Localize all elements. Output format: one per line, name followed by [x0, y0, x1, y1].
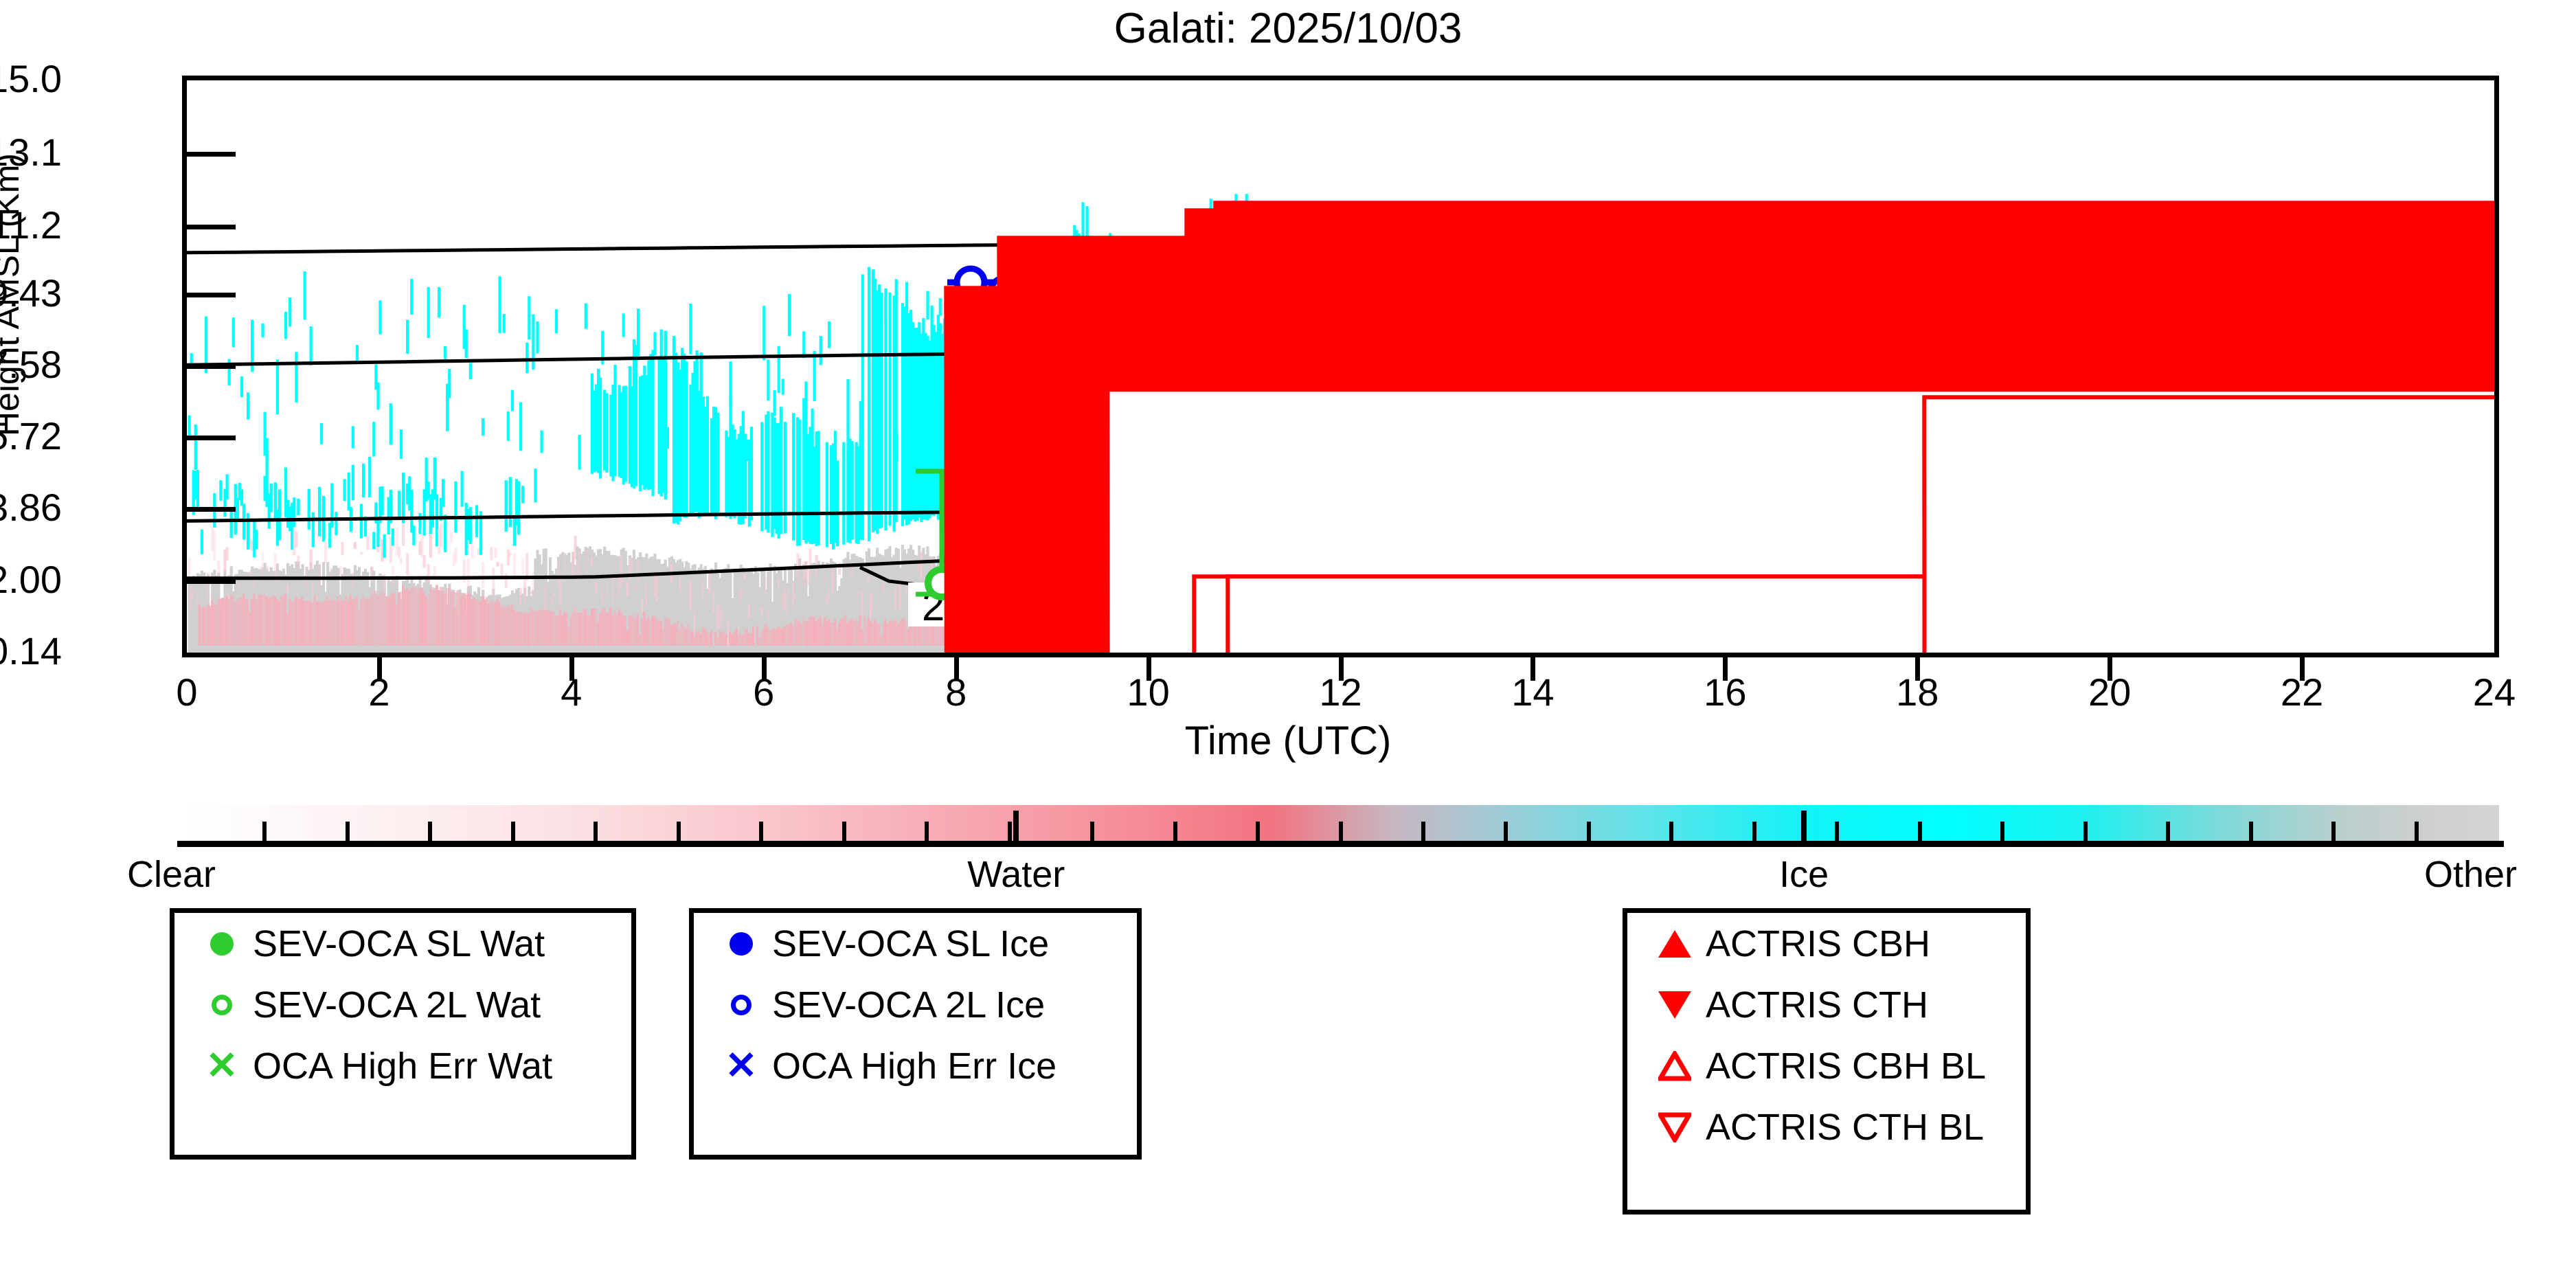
plot-canvas: 230250273279	[187, 80, 2494, 653]
x-tick-mark	[1915, 657, 1920, 681]
legend-item-label: OCA High Err Ice	[771, 1045, 1057, 1087]
filled-circle-icon	[712, 932, 771, 956]
colorbar-major-tick	[1013, 811, 1019, 842]
legend-item[interactable]: ACTRIS CTH BL	[1627, 1096, 2026, 1157]
y-tick-label: 13.1	[0, 133, 62, 172]
water-legend: SEV-OCA SL WatSEV-OCA 2L Wat✕OCA High Er…	[170, 908, 636, 1160]
colorbar-tick	[2331, 822, 2336, 842]
x-tick-mark	[377, 657, 382, 681]
y-tick-label: 5.72	[0, 417, 62, 455]
colorbar-label: Ice	[1779, 853, 1829, 896]
legend-item[interactable]: ✕OCA High Err Wat	[174, 1035, 631, 1096]
colorbar-tick	[428, 822, 432, 842]
colorbar-tick	[594, 822, 598, 842]
x-marker-icon: ✕	[712, 1050, 771, 1081]
colorbar-tick	[2166, 822, 2170, 842]
open-circle-icon	[712, 995, 771, 1015]
colorbar-tick	[1918, 822, 1922, 842]
legend-item-label: ACTRIS CTH BL	[1704, 1106, 1984, 1149]
colorbar-tick	[346, 822, 350, 842]
open-circle-icon	[192, 995, 251, 1015]
colorbar-tick	[262, 822, 267, 842]
ice-legend: SEV-OCA SL IceSEV-OCA 2L Ice✕OCA High Er…	[689, 908, 1142, 1160]
legend-item-label: ACTRIS CBH BL	[1704, 1045, 1986, 1087]
legend-item[interactable]: ACTRIS CTH	[1627, 974, 2026, 1035]
colorbar-tick	[1587, 822, 1591, 842]
x-axis-label: Time (UTC)	[0, 718, 2576, 764]
triangle-up-outline-icon	[1645, 1051, 1704, 1081]
legend-item[interactable]: SEV-OCA SL Wat	[174, 913, 631, 974]
colorbar-tick	[1256, 822, 1260, 842]
colorbar-tick	[2083, 822, 2088, 842]
colorbar-label: Water	[967, 853, 1065, 896]
legend-item-label: ACTRIS CTH	[1704, 984, 1928, 1026]
legend-item-label: SEV-OCA SL Wat	[251, 923, 545, 965]
y-tick-mark	[182, 579, 236, 584]
colorbar-major-tick	[1801, 811, 1807, 842]
y-tick-label: 15.0	[0, 60, 62, 98]
data-markers-layer	[916, 201, 2494, 653]
y-tick-mark	[182, 507, 236, 512]
y-tick-mark	[182, 364, 236, 369]
page-title: Galati: 2025/10/03	[0, 4, 2576, 53]
triangle-up-icon	[1645, 930, 1704, 958]
x-tick-label: 24	[2426, 670, 2563, 714]
x-tick-mark	[569, 657, 574, 681]
x-tick-label: 0	[118, 670, 256, 714]
colorbar-tick	[677, 822, 681, 842]
legend-item-label: SEV-OCA 2L Ice	[771, 984, 1045, 1026]
chart-page: Galati: 2025/10/03 Height AMSL (Km) 2302…	[0, 0, 2576, 1288]
y-tick-mark	[182, 293, 236, 297]
y-tick-mark	[182, 152, 236, 157]
y-tick-label: 11.2	[0, 206, 62, 245]
colorbar-label: Other	[2424, 853, 2517, 896]
triangle-down-icon	[1645, 991, 1704, 1019]
colorbar-tick	[925, 822, 929, 842]
colorbar-tick	[1504, 822, 1508, 842]
legend-item[interactable]: ACTRIS CBH	[1627, 913, 2026, 974]
y-tick-mark	[182, 225, 236, 229]
x-tick-mark	[1530, 657, 1535, 681]
legend-item-label: SEV-OCA SL Ice	[771, 923, 1049, 965]
actris-legend: ACTRIS CBHACTRIS CTHACTRIS CBH BLACTRIS …	[1623, 908, 2031, 1214]
plot-area: 230250273279	[182, 76, 2499, 657]
triangle-down-outline-icon	[1645, 1112, 1704, 1142]
x-tick-mark	[2108, 657, 2112, 681]
colorbar-tick	[1339, 822, 1343, 842]
colorbar-tick	[1090, 822, 1094, 842]
y-tick-label: 9.43	[0, 274, 62, 313]
colorbar-tick	[2249, 822, 2253, 842]
colorbar-tick	[1835, 822, 1839, 842]
colorbar-tick	[1669, 822, 1673, 842]
colorbar-tick	[1008, 822, 1012, 842]
colorbar-tick	[2415, 822, 2419, 842]
y-tick-label: 3.86	[0, 488, 62, 527]
legend-item-label: ACTRIS CBH	[1704, 923, 1930, 965]
y-tick-label: 0.14	[0, 632, 62, 670]
x-tick-mark	[1146, 657, 1151, 681]
legend-item[interactable]: SEV-OCA 2L Wat	[174, 974, 631, 1035]
colorbar-tick	[511, 822, 515, 842]
colorbar-label: Clear	[127, 853, 216, 896]
x-tick-mark	[2300, 657, 2305, 681]
x-tick-mark	[954, 657, 959, 681]
colorbar-tick	[759, 822, 763, 842]
colorbar-tick	[1752, 822, 1756, 842]
x-tick-mark	[1339, 657, 1344, 681]
x-marker-icon: ✕	[192, 1050, 251, 1081]
y-tick-label: 7.58	[0, 346, 62, 384]
colorbar-tick	[842, 822, 846, 842]
legend-item[interactable]: ACTRIS CBH BL	[1627, 1035, 2026, 1096]
colorbar-tick	[1173, 822, 1177, 842]
x-tick-mark	[1723, 657, 1728, 681]
legend-item[interactable]: SEV-OCA SL Ice	[694, 913, 1137, 974]
legend-item-label: OCA High Err Wat	[251, 1045, 552, 1087]
y-tick-mark	[182, 436, 236, 440]
x-tick-mark	[762, 657, 767, 681]
filled-circle-icon	[192, 932, 251, 956]
colorbar-tick	[2000, 822, 2004, 842]
series-actris-cth-bl	[1107, 389, 2494, 653]
legend-item[interactable]: ✕OCA High Err Ice	[694, 1035, 1137, 1096]
y-tick-label: 2.00	[0, 561, 62, 599]
colorbar-tick	[1421, 822, 1425, 842]
legend-item[interactable]: SEV-OCA 2L Ice	[694, 974, 1137, 1035]
cloud-mask-image: 230250273279	[187, 80, 2494, 653]
legend-item-label: SEV-OCA 2L Wat	[251, 984, 541, 1026]
